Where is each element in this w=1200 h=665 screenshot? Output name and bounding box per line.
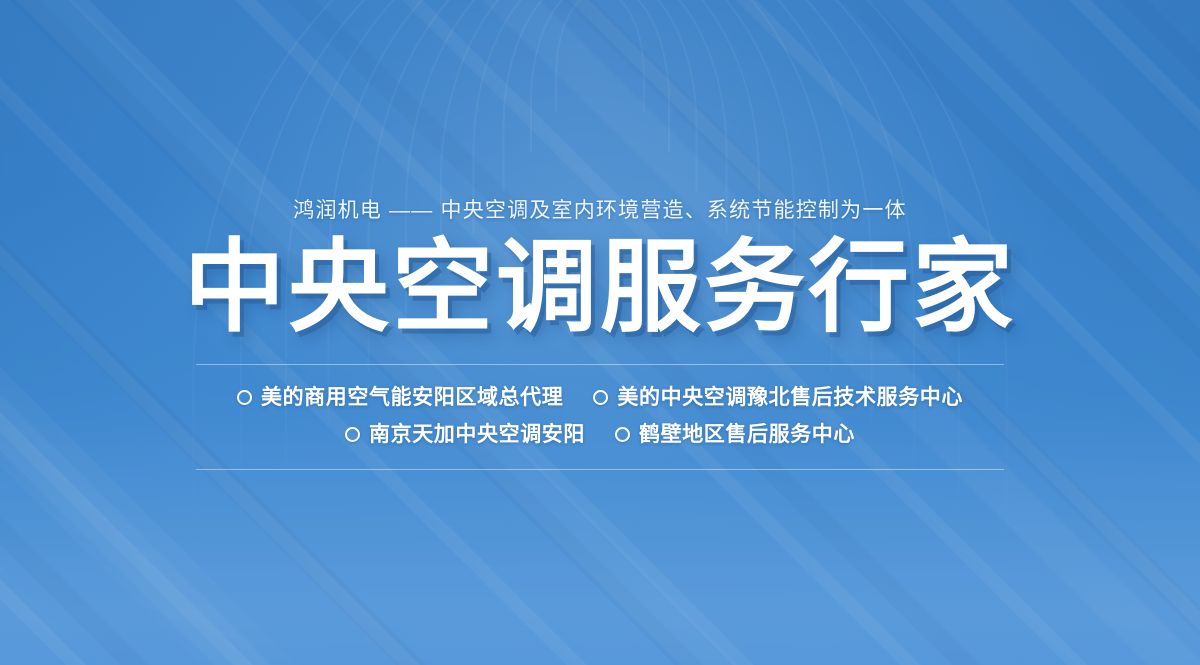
feature-label: 美的商用空气能安阳区域总代理 [261,386,563,410]
feature-label: 鹤壁地区售后服务中心 [639,423,855,447]
hero-banner: 鸿润机电 —— 中央空调及室内环境营造、系统节能控制为一体 中央空调服务行家 美… [0,0,1200,665]
feature-label: 美的中央空调豫北售后技术服务中心 [617,386,963,410]
feature-label: 南京天加中央空调安阳 [369,423,585,447]
feature-row: 美的商用空气能安阳区域总代理 美的中央空调豫北售后技术服务中心 [196,379,1004,416]
circle-outline-icon [615,427,630,442]
feature-row: 南京天加中央空调安阳 鹤壁地区售后服务中心 [196,416,1004,453]
feature-item: 南京天加中央空调安阳 [345,423,585,447]
banner-subtitle: 鸿润机电 —— 中央空调及室内环境营造、系统节能控制为一体 [293,196,906,226]
banner-headline: 中央空调服务行家 [184,236,1016,340]
banner-content: 鸿润机电 —— 中央空调及室内环境营造、系统节能控制为一体 中央空调服务行家 美… [0,0,1200,665]
circle-outline-icon [345,427,360,442]
circle-outline-icon [593,390,608,405]
feature-item: 美的中央空调豫北售后技术服务中心 [593,386,963,410]
circle-outline-icon [237,390,252,405]
feature-item: 鹤壁地区售后服务中心 [615,423,855,447]
feature-list: 美的商用空气能安阳区域总代理 美的中央空调豫北售后技术服务中心 南京天加中央空调… [196,364,1004,470]
feature-item: 美的商用空气能安阳区域总代理 [237,386,563,410]
